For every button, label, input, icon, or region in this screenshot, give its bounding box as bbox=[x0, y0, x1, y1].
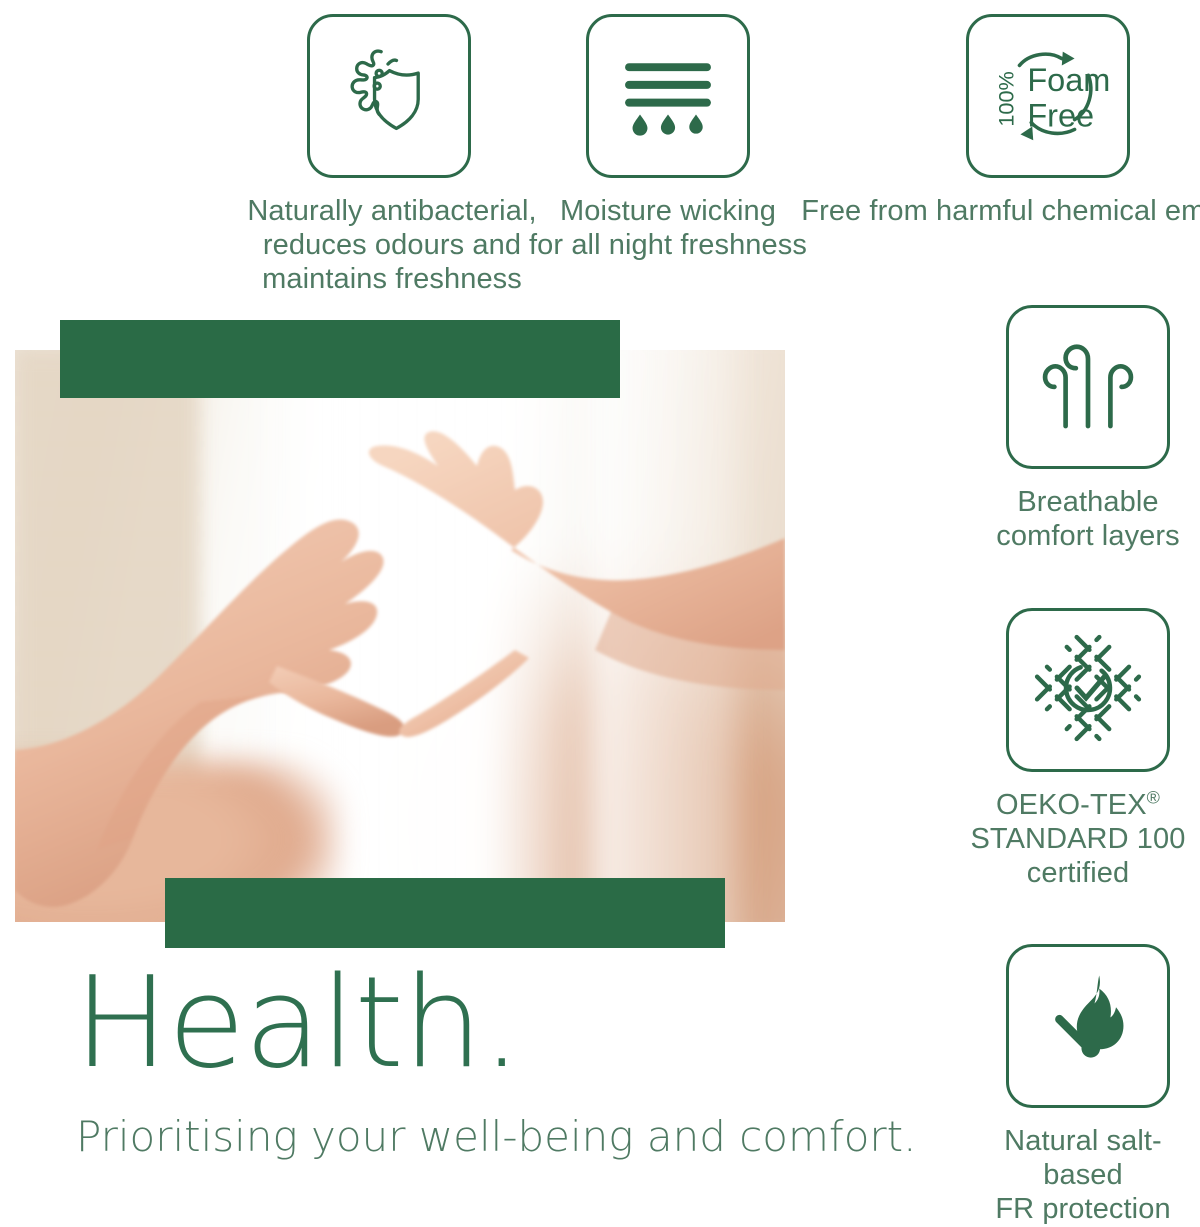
feature-caption: Natural salt-based FR protection bbox=[966, 1124, 1200, 1227]
flame-match-icon bbox=[1032, 968, 1144, 1085]
decorative-bar-bottom bbox=[165, 878, 725, 948]
page-subtitle: Prioritising your well-being and comfort… bbox=[76, 1114, 916, 1160]
oeko-line-3: certified bbox=[1027, 857, 1129, 889]
foam-free-icon-box: 100% Foam Free bbox=[966, 14, 1130, 178]
moisture-wicking-icon bbox=[612, 38, 724, 155]
fr-protection-icon-box bbox=[1006, 944, 1170, 1108]
bacteria-shield-icon-box bbox=[307, 14, 471, 178]
feature-oeko-tex: OEKO-TEX® STANDARD 100 certified bbox=[956, 608, 1200, 891]
feature-foam-free: 100% Foam Free Free from harmful chemica… bbox=[896, 14, 1200, 228]
feature-caption: Free from harmful chemical emissions bbox=[801, 194, 1200, 228]
feature-caption: OEKO-TEX® STANDARD 100 certified bbox=[970, 788, 1185, 891]
foam-free-line1: Foam bbox=[1027, 62, 1110, 98]
feature-caption: Moisture wicking for all night freshness bbox=[529, 194, 807, 262]
feature-caption: Breathable comfort layers bbox=[996, 485, 1180, 553]
page-title: Health. bbox=[74, 960, 521, 1086]
oeko-tex-weave-check-icon bbox=[1028, 628, 1148, 753]
breathable-sprouts-icon bbox=[1032, 329, 1144, 446]
infographic-canvas: Naturally antibacterial, reduces odours … bbox=[0, 0, 1200, 1200]
feature-caption: Naturally antibacterial, reduces odours … bbox=[247, 194, 536, 297]
decorative-bar-top bbox=[60, 320, 620, 398]
breathable-icon-box bbox=[1006, 305, 1170, 469]
feature-fr-protection: Natural salt-based FR protection bbox=[966, 944, 1200, 1227]
bacteria-shield-icon bbox=[330, 35, 448, 158]
hero-photo-block bbox=[0, 300, 800, 960]
foam-free-line2: Free bbox=[1027, 97, 1094, 133]
foam-free-percent-text: 100% bbox=[994, 71, 1019, 126]
foam-free-icon: 100% Foam Free bbox=[984, 30, 1112, 163]
hands-heart-illustration bbox=[15, 350, 785, 922]
registered-mark: ® bbox=[1147, 787, 1160, 807]
hands-heart-photo bbox=[15, 350, 785, 922]
feature-moisture-wicking: Moisture wicking for all night freshness bbox=[518, 14, 818, 262]
feature-breathable: Breathable comfort layers bbox=[976, 305, 1200, 553]
oeko-tex-icon-box bbox=[1006, 608, 1170, 772]
oeko-line-1: OEKO-TEX bbox=[996, 789, 1147, 821]
oeko-line-2: STANDARD 100 bbox=[970, 823, 1185, 855]
moisture-wicking-icon-box bbox=[586, 14, 750, 178]
